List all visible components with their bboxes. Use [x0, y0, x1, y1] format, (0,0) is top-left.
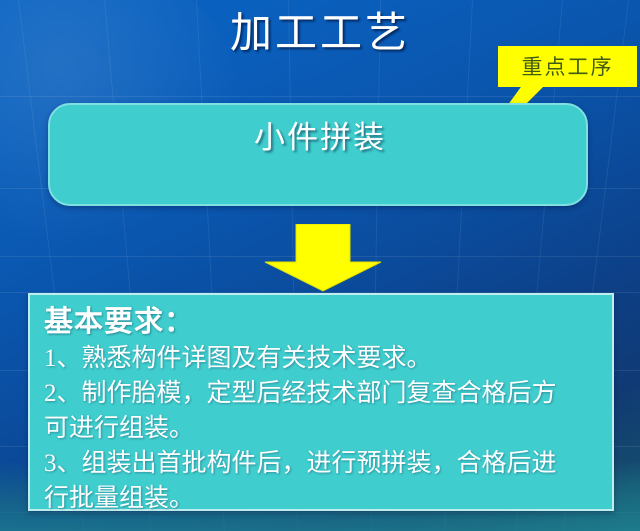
process-step-box[interactable]: 小件拼装	[48, 103, 588, 206]
requirements-item: 3、组装出首批构件后，进行预拼装，合格后进	[44, 446, 602, 481]
arrow-down-icon	[264, 224, 382, 292]
requirements-item: 1、熟悉构件详图及有关技术要求。	[44, 341, 602, 376]
grid-line-horizontal	[0, 256, 640, 257]
callout-label: 重点工序	[522, 56, 614, 78]
grid-line-horizontal	[0, 96, 640, 97]
requirements-item: 2、制作胎模，定型后经技术部门复查合格后方	[44, 376, 602, 411]
requirements-box: 基本要求： 1、熟悉构件详图及有关技术要求。 2、制作胎模，定型后经技术部门复查…	[28, 293, 614, 511]
slide-canvas: 加工工艺 重点工序 小件拼装 基本要求： 1、熟悉构件详图及有关技术要求。 2、…	[0, 0, 640, 531]
callout-重点工序[interactable]: 重点工序	[498, 46, 637, 87]
requirements-heading: 基本要求：	[44, 303, 602, 341]
process-step-label: 小件拼装	[50, 119, 590, 157]
requirements-item: 可进行组装。	[44, 411, 602, 446]
requirements-item: 行批量组装。	[44, 481, 602, 516]
